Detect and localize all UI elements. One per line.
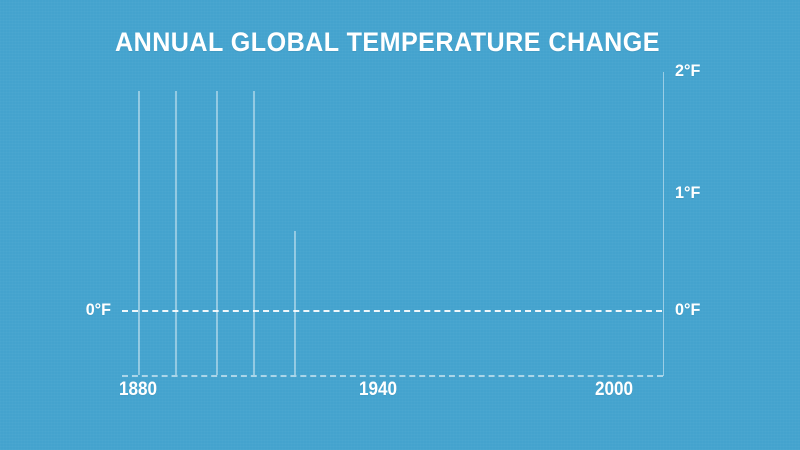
y-tick-label-right-0: 0°F [675,300,700,320]
y-tick-label-right-2: 2°F [675,61,700,81]
x-tick-label-2000: 2000 [578,379,650,401]
bar-1889 [175,91,177,375]
bar-1899 [216,91,218,375]
bar-1908 [253,91,255,375]
x-tick-label-1880: 1880 [102,379,174,401]
bar-1880 [138,91,140,375]
y-tick-label-right-1: 1°F [675,183,700,203]
x-tick-label-1940: 1940 [342,379,414,401]
chart-plot-area: 0°F 2°F 1°F 0°F 1880 1940 2000 [0,0,800,450]
y-tick-label-left-0: 0°F [40,300,111,320]
zero-reference-line [122,310,662,312]
bar-1918 [294,231,296,375]
x-axis-line [122,375,663,377]
y-axis-line [663,72,664,376]
